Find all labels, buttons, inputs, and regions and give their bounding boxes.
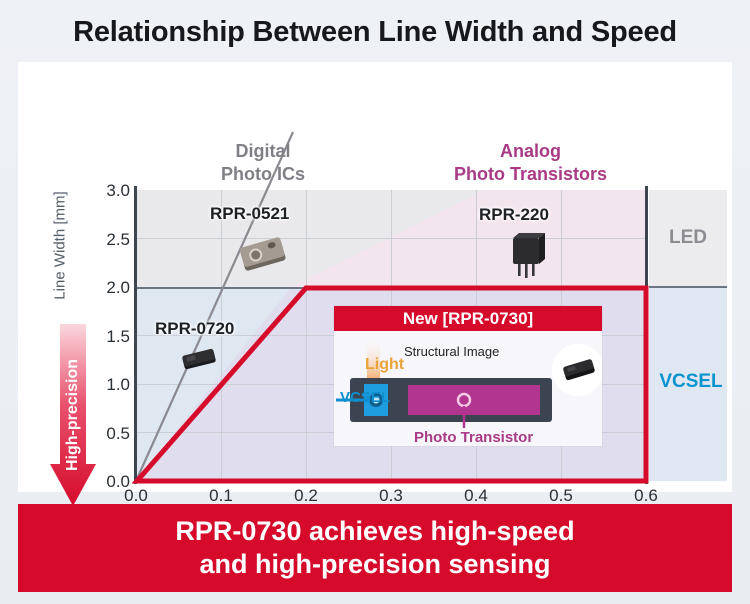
x-tick: 0.4: [464, 486, 488, 506]
part-label-rpr0720: RPR-0720: [155, 319, 234, 339]
y-axis: [134, 186, 137, 484]
high-precision-text: High-precision: [64, 359, 82, 471]
region-label-digital-line2: Photo ICs: [193, 163, 333, 186]
chip-photo-rpr0521: [236, 235, 290, 275]
footer-banner: RPR-0730 achieves high-speed and high-pr…: [18, 504, 732, 592]
side-band-divider: [649, 286, 727, 288]
chip-photo-rpr0720: [178, 345, 220, 373]
y-tick: 3.0: [86, 181, 130, 201]
y-axis-label: Line Width [mm]: [52, 191, 69, 299]
region-label-analog-line1: Analog: [423, 140, 638, 163]
x-tick: 0.3: [379, 486, 403, 506]
part-label-rpr0521: RPR-0521: [210, 204, 289, 224]
x-tick: 0.6: [634, 486, 658, 506]
region-label-digital: Digital Photo ICs: [193, 140, 333, 185]
region-label-digital-line1: Digital: [193, 140, 333, 163]
y-tick: 2.0: [86, 278, 130, 298]
new-product-callout-header: New [RPR-0730]: [334, 306, 602, 331]
right-axis: [645, 186, 648, 484]
footer-line2: and high-precision sensing: [175, 548, 574, 581]
chip-photo-rpr220: [500, 230, 552, 280]
region-label-analog-line2: Photo Transistors: [423, 163, 638, 186]
label-light: Light: [365, 356, 404, 374]
part-label-rpr220: RPR-220: [479, 205, 549, 225]
footer-text: RPR-0730 achieves high-speed and high-pr…: [175, 515, 574, 581]
region-label-analog: Analog Photo Transistors: [423, 140, 638, 185]
label-vcsel-component: VCSEL: [340, 389, 390, 406]
side-label-led: LED: [649, 227, 727, 249]
gridline-2mm-divider: [136, 287, 646, 289]
gridline-h: [136, 238, 646, 239]
infographic-page: Relationship Between Line Width and Spee…: [0, 0, 750, 604]
high-precision-arrow-label: High-precision: [50, 324, 96, 506]
x-axis: [136, 481, 648, 483]
footer-line1: RPR-0730 achieves high-speed: [175, 515, 574, 548]
label-photo-transistor: Photo Transistor: [414, 429, 533, 446]
chart-card: 3.0 2.5 2.0 1.5 1.0 0.5 0.0 0.0 0.1 0.2 …: [18, 62, 732, 492]
x-tick: 0.1: [209, 486, 233, 506]
x-tick: 0.0: [124, 486, 148, 506]
y-tick: 2.5: [86, 230, 130, 250]
side-label-vcsel: VCSEL: [646, 371, 736, 393]
x-tick: 0.5: [549, 486, 573, 506]
x-tick: 0.2: [294, 486, 318, 506]
page-title: Relationship Between Line Width and Spee…: [0, 16, 750, 49]
